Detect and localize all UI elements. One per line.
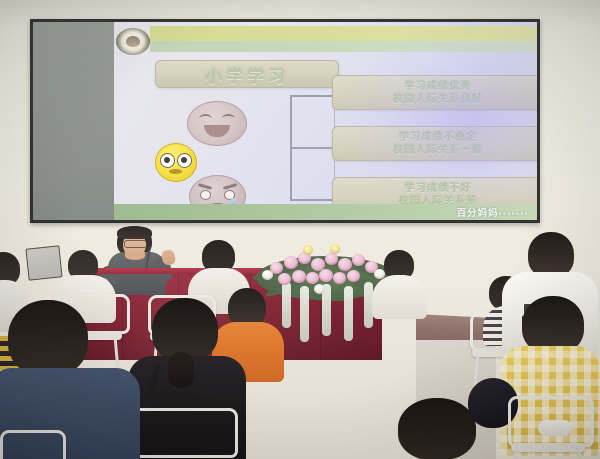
chair-foreground-right [508, 396, 588, 459]
screen-letterbox-band [33, 22, 114, 220]
rose-14 [347, 270, 360, 282]
projection-screen: 小学学习 [30, 19, 540, 223]
rose-7 [352, 254, 365, 266]
connector-branch-1 [290, 95, 334, 97]
surprised-face-emoji [155, 143, 197, 182]
rose-yellow-2 [330, 244, 340, 254]
slide-title-text: 小学学习 [205, 62, 289, 87]
surprised-eye-right [177, 153, 192, 168]
slide-banner-second [150, 41, 537, 52]
sad-eye-left [200, 190, 211, 200]
chair-leg-right [114, 337, 120, 370]
slide-box-3-line-1: 学习成绩不好 [404, 182, 471, 195]
chair-foreground-mid [126, 408, 232, 459]
hanging-flower-1 [282, 282, 291, 328]
hanging-flower-2 [300, 286, 309, 342]
connector-branch-2 [290, 147, 334, 149]
slide-box-1-line-1: 学习成绩优秀 [404, 80, 471, 93]
slide-box-2-line-1: 学习成绩不稳定 [399, 131, 477, 144]
chair-leg-left [474, 354, 480, 386]
slide-box-1-line-2: 校园人际关系良好 [393, 93, 483, 106]
rose-12 [319, 269, 333, 282]
rose-9 [278, 273, 291, 285]
rose-13 [333, 272, 346, 284]
happy-mouth [204, 125, 230, 137]
school-emblem-icon [116, 28, 150, 55]
chair-seat [511, 443, 585, 451]
rose-10 [292, 270, 306, 283]
surprised-eye-left [160, 153, 175, 168]
happy-eye-left [199, 114, 212, 123]
chair-back-rest [0, 430, 66, 459]
connector-branch-3 [290, 199, 334, 201]
rose-white-3 [314, 284, 325, 294]
slide-bracket-connector [290, 82, 334, 212]
chair-leg-left [515, 450, 519, 459]
hanging-flower-4 [344, 286, 353, 341]
head [8, 300, 88, 376]
rose-2 [284, 256, 298, 269]
presenter-fringe [117, 226, 152, 239]
chair-back-rest [126, 408, 238, 458]
slide-text-box-1: 学习成绩优秀 校园人际关系良好 [332, 75, 537, 110]
presenter-glasses [124, 240, 147, 248]
watermark-text: 百分妈妈 [457, 208, 499, 219]
connector-cell-1 [290, 95, 335, 149]
rose-yellow-1 [303, 245, 313, 255]
sad-brow-left [198, 183, 212, 190]
slide-text-box-2: 学习成绩不稳定 校园人际关系一般 [332, 126, 537, 161]
connector-cell-2 [290, 147, 335, 201]
chair-leg-right [577, 450, 581, 459]
happy-eye-right [222, 114, 235, 123]
laptop-screen [25, 245, 62, 280]
chair-back-rest [508, 396, 594, 447]
presenter-neckline [125, 252, 145, 260]
rose-11 [306, 272, 319, 284]
presentation-slide: 小学学习 [114, 22, 537, 220]
rose-5 [325, 253, 338, 265]
chair-foreground-left [0, 430, 60, 459]
happy-face-emoji [187, 101, 247, 146]
rose-6 [338, 258, 352, 271]
slide-watermark: 百分妈妈▪▪▪▪▪▪▪ [457, 205, 529, 219]
slide-banner-top [150, 26, 537, 42]
lecture-photo: 小学学习 [0, 0, 600, 459]
surprised-mouth [169, 169, 182, 174]
ponytail [168, 352, 194, 388]
screen-surface: 小学学习 [33, 22, 537, 220]
torso [372, 275, 427, 319]
head [398, 398, 476, 459]
rose-white-1 [262, 270, 273, 280]
sad-brow-right [223, 183, 237, 190]
watermark-dots: ▪▪▪▪▪▪▪ [499, 209, 529, 218]
slide-box-2-line-2: 校园人际关系一般 [393, 144, 483, 157]
